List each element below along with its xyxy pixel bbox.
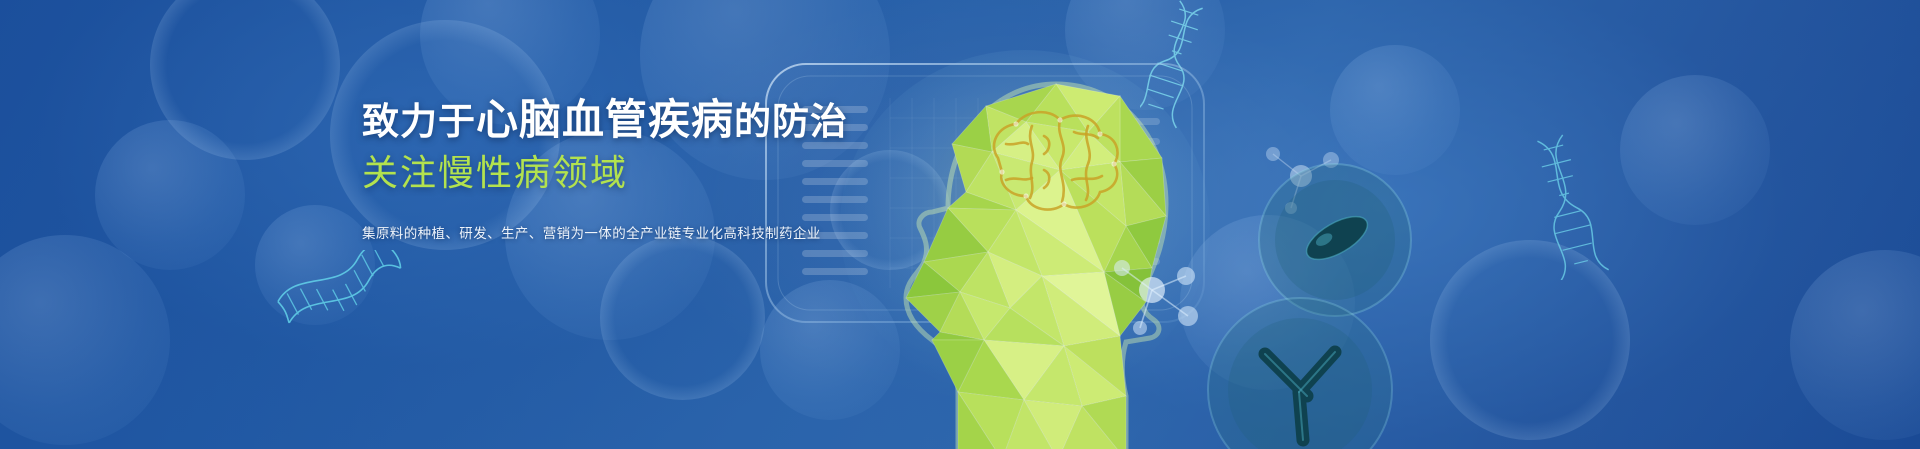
molecule-icon [1255, 130, 1350, 225]
bokeh-circle [830, 150, 950, 270]
dna-helix-icon [1140, 0, 1220, 130]
bokeh-circle [1620, 75, 1770, 225]
bokeh-circle [95, 120, 245, 270]
headline-emphasis: 心脑血管疾病 [476, 96, 734, 143]
bokeh-circle [760, 280, 900, 420]
bokeh-circle [1180, 215, 1355, 390]
bokeh-circle [0, 235, 170, 445]
page-description: 集原料的种植、研发、生产、营销为一体的全产业链专业化高科技制药企业 [362, 222, 792, 242]
bokeh-circle [1330, 45, 1460, 175]
bokeh-circle [600, 235, 765, 400]
cell-icon [1195, 290, 1405, 449]
bokeh-circle [1430, 240, 1630, 440]
headline-suffix: 的防治 [734, 101, 848, 142]
hero-banner: 致力于心脑血管疾病的防治 关注慢性病领域 集原料的种植、研发、生产、营销为一体的… [0, 0, 1920, 449]
headline-prefix: 致力于 [362, 101, 476, 142]
dna-helix-icon [1530, 130, 1620, 280]
bokeh-circle [255, 205, 375, 325]
page-title: 致力于心脑血管疾病的防治 [362, 96, 792, 145]
tech-frame-graphic [760, 58, 1210, 328]
bokeh-circle [150, 0, 340, 160]
dna-helix-icon [275, 250, 415, 350]
bokeh-circle [1065, 0, 1225, 110]
molecule-icon [1100, 240, 1210, 350]
low-poly-head-graphic [820, 40, 1250, 449]
center-glow [0, 0, 1920, 449]
cell-icon [1245, 150, 1425, 330]
banner-text-block: 致力于心脑血管疾病的防治 关注慢性病领域 集原料的种植、研发、生产、营销为一体的… [362, 96, 792, 242]
page-subtitle: 关注慢性病领域 [362, 152, 792, 194]
bokeh-circle [1790, 250, 1920, 440]
